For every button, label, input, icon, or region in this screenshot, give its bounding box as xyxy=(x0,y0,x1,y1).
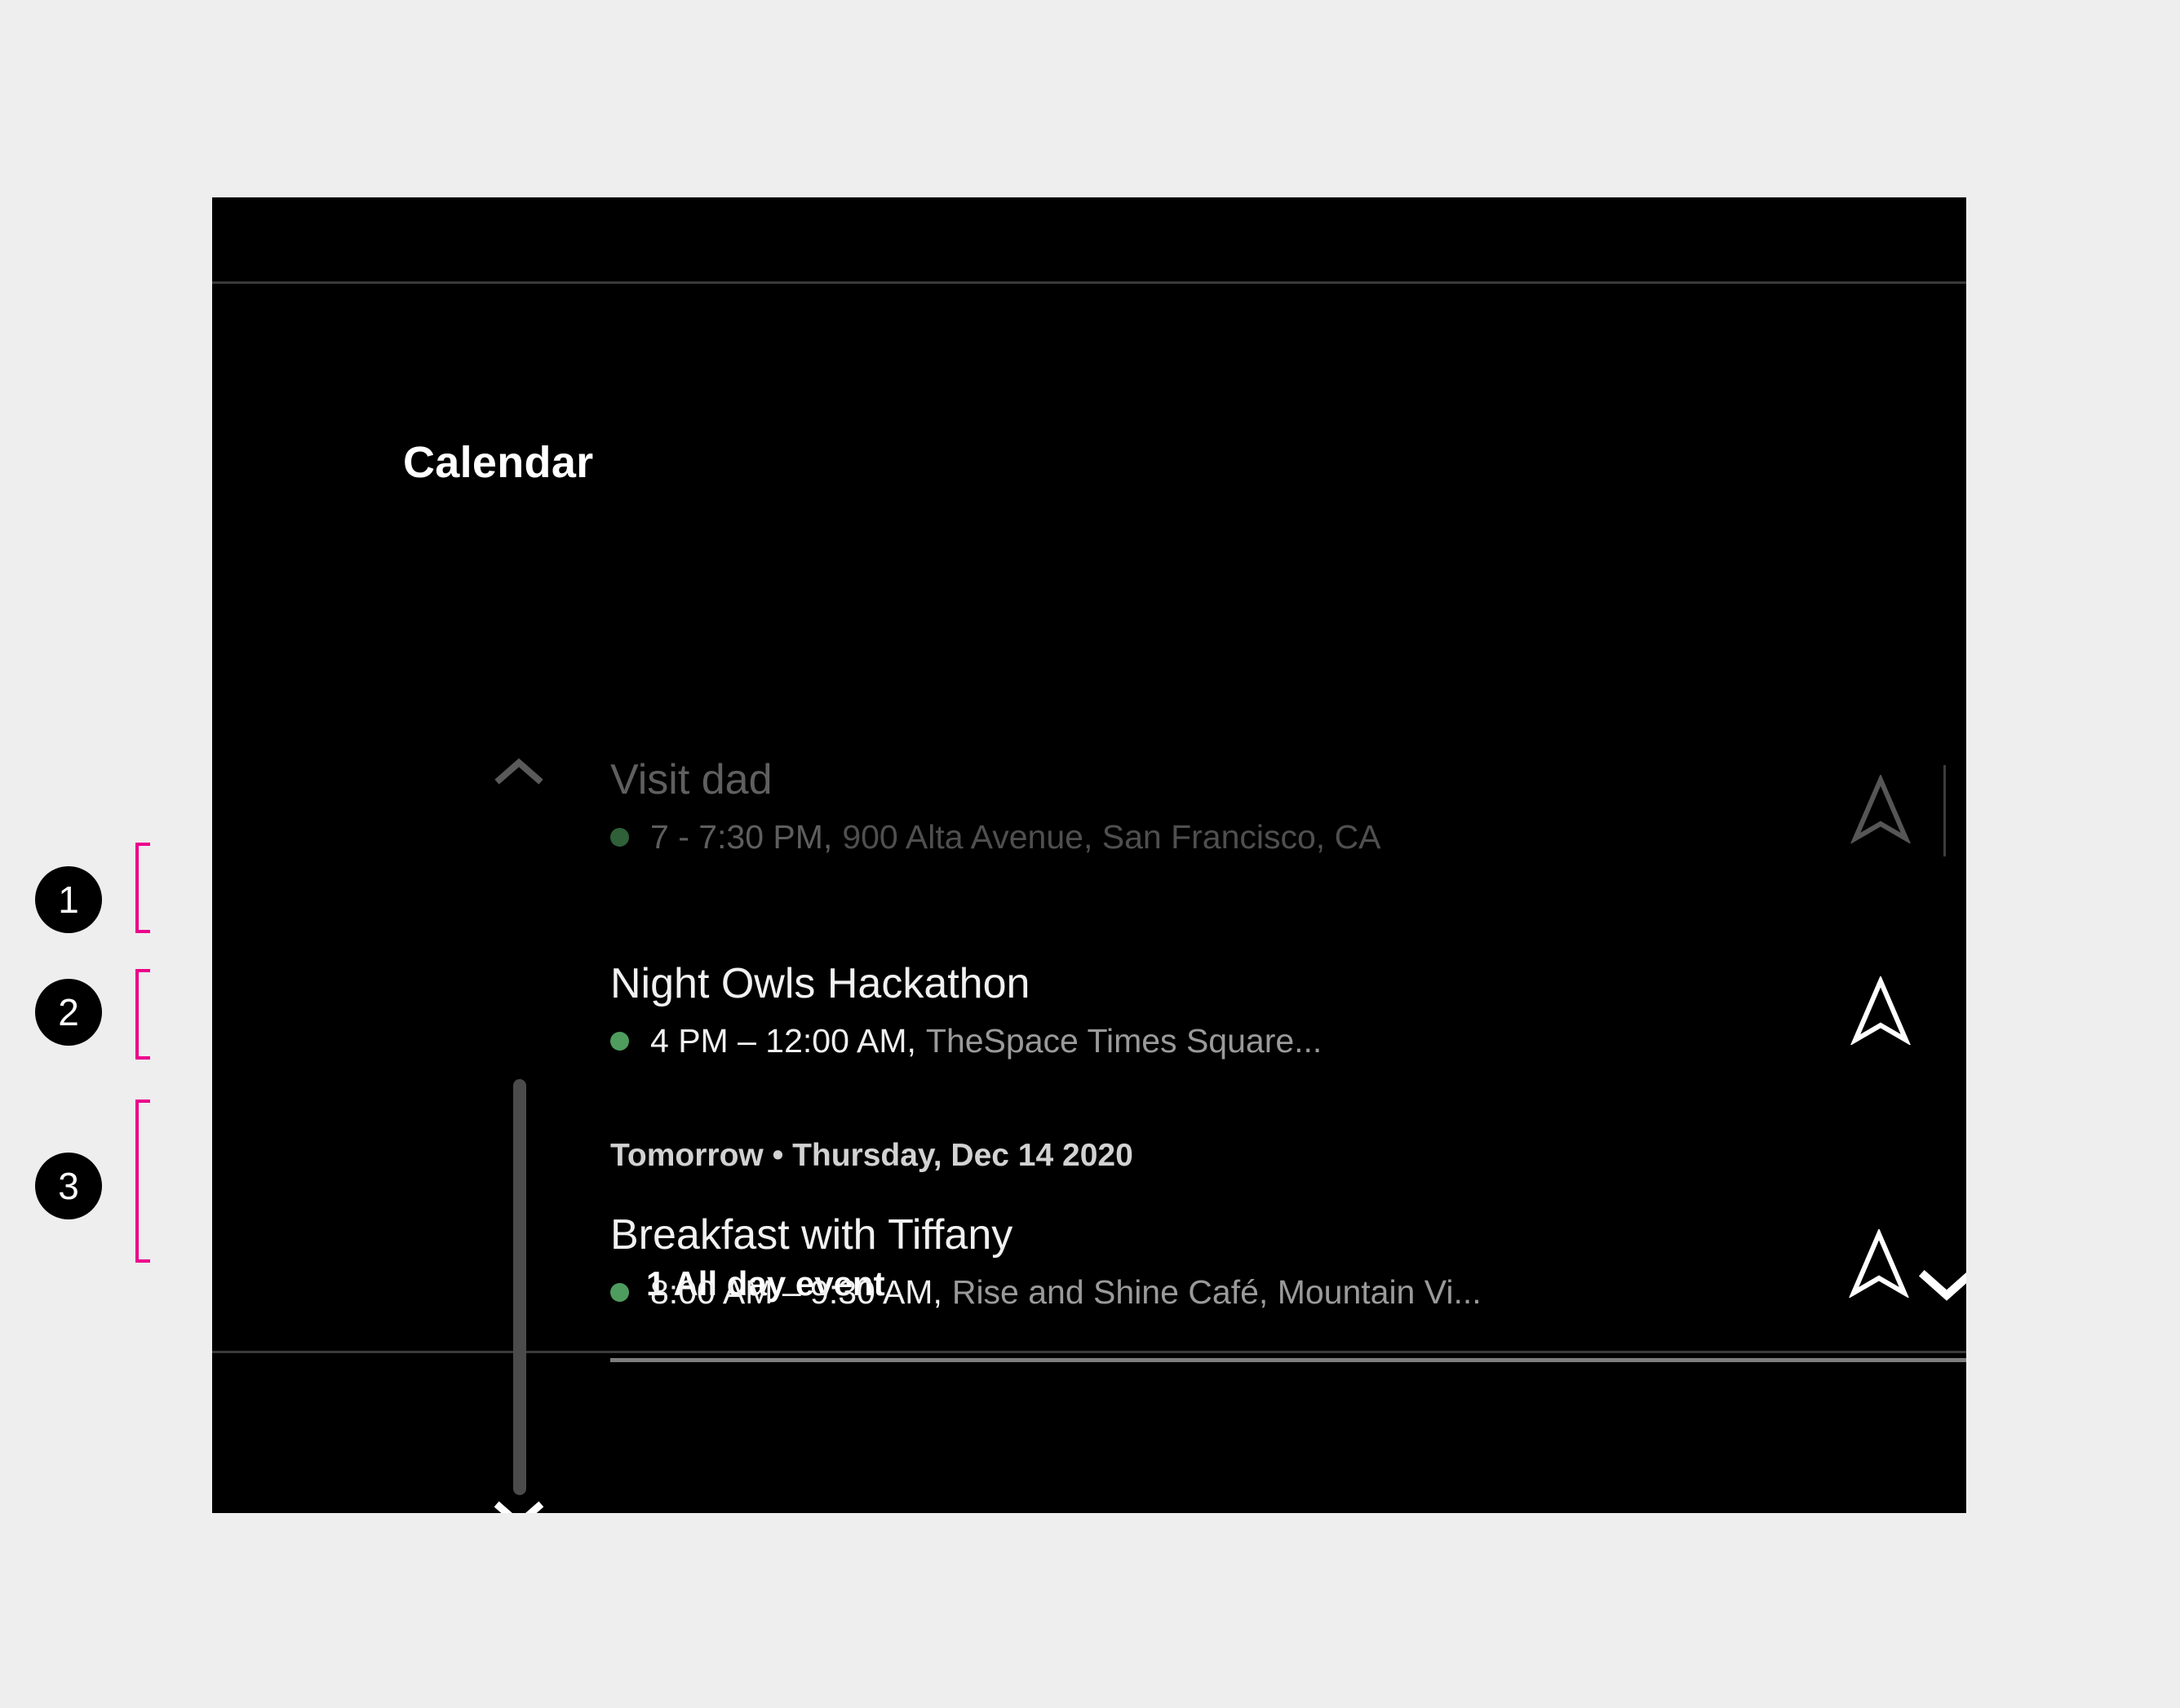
event-row[interactable]: Breakfast with Tiffany 8:00 AM – 9:30 AM… xyxy=(610,1214,1966,1312)
section-separator xyxy=(610,1358,1966,1362)
annotation-marker-1: 1 xyxy=(35,866,102,933)
event-subtitle: 7 - 7:30 PM, 900 Alta Avenue, San Franci… xyxy=(610,818,1966,856)
event-row-actions xyxy=(1836,967,1925,1057)
navigate-button[interactable] xyxy=(1836,766,1925,856)
calendar-color-dot xyxy=(610,1032,629,1051)
annotation-marker-3: 3 xyxy=(35,1153,102,1219)
event-row[interactable]: Night Owls Hackathon 4 PM – 12:00 AM, Th… xyxy=(610,962,1966,1060)
event-time: 4 PM – 12:00 AM, xyxy=(650,1022,916,1060)
scroll-up-button[interactable] xyxy=(483,736,555,808)
annotation-bracket-3 xyxy=(135,1100,150,1263)
annotation-marker-3-label: 3 xyxy=(58,1167,79,1205)
event-time: 8:00 AM – 9:30 AM, xyxy=(650,1273,942,1312)
chevron-down-icon xyxy=(494,1498,543,1513)
bottom-divider xyxy=(212,1351,1966,1353)
navigate-button[interactable] xyxy=(1834,1220,1924,1310)
page-title: Calendar xyxy=(403,437,593,488)
event-row-actions xyxy=(1834,1220,1924,1310)
annotation-bracket-2 xyxy=(135,969,150,1060)
event-subtitle: 4 PM – 12:00 AM, TheSpace Times Square..… xyxy=(610,1022,1966,1060)
call-button[interactable] xyxy=(1964,766,1966,856)
event-location: TheSpace Times Square... xyxy=(926,1022,1322,1060)
annotation-marker-2-label: 2 xyxy=(58,993,79,1031)
event-time: 7 - 7:30 PM, xyxy=(650,818,832,856)
navigate-icon xyxy=(1850,976,1911,1049)
calendar-color-dot xyxy=(610,828,629,847)
calendar-card: Calendar Visit dad 7 - 7:30 PM, xyxy=(212,284,1966,1351)
annotation-marker-1-label: 1 xyxy=(58,881,79,918)
event-location: Rise and Shine Café, Mountain Vi... xyxy=(952,1273,1482,1312)
event-title: Breakfast with Tiffany xyxy=(610,1214,1966,1257)
event-title: Night Owls Hackathon xyxy=(610,962,1966,1006)
event-row[interactable]: Visit dad 7 - 7:30 PM, 900 Alta Avenue, … xyxy=(610,759,1966,856)
device-screen: Calendar Visit dad 7 - 7:30 PM, xyxy=(212,197,1966,1513)
navigate-icon xyxy=(1850,775,1911,847)
event-title: Visit dad xyxy=(610,759,1966,802)
navigate-icon xyxy=(1849,1229,1909,1302)
annotation-marker-2: 2 xyxy=(35,979,102,1046)
event-row-actions xyxy=(1836,765,1966,856)
event-subtitle: 8:00 AM – 9:30 AM, Rise and Shine Café, … xyxy=(610,1273,1966,1312)
annotation-bracket-1 xyxy=(135,843,150,933)
scrollbar-thumb[interactable] xyxy=(513,1079,526,1495)
chevron-up-icon xyxy=(494,755,543,788)
action-divider xyxy=(1943,765,1946,856)
navigate-button[interactable] xyxy=(1836,967,1925,1057)
day-header: Tomorrow • Thursday, Dec 14 2020 xyxy=(610,1138,1133,1174)
calendar-color-dot xyxy=(610,1283,629,1302)
scroll-down-button[interactable] xyxy=(483,1478,555,1513)
event-location: 900 Alta Avenue, San Francisco, CA xyxy=(842,818,1380,856)
